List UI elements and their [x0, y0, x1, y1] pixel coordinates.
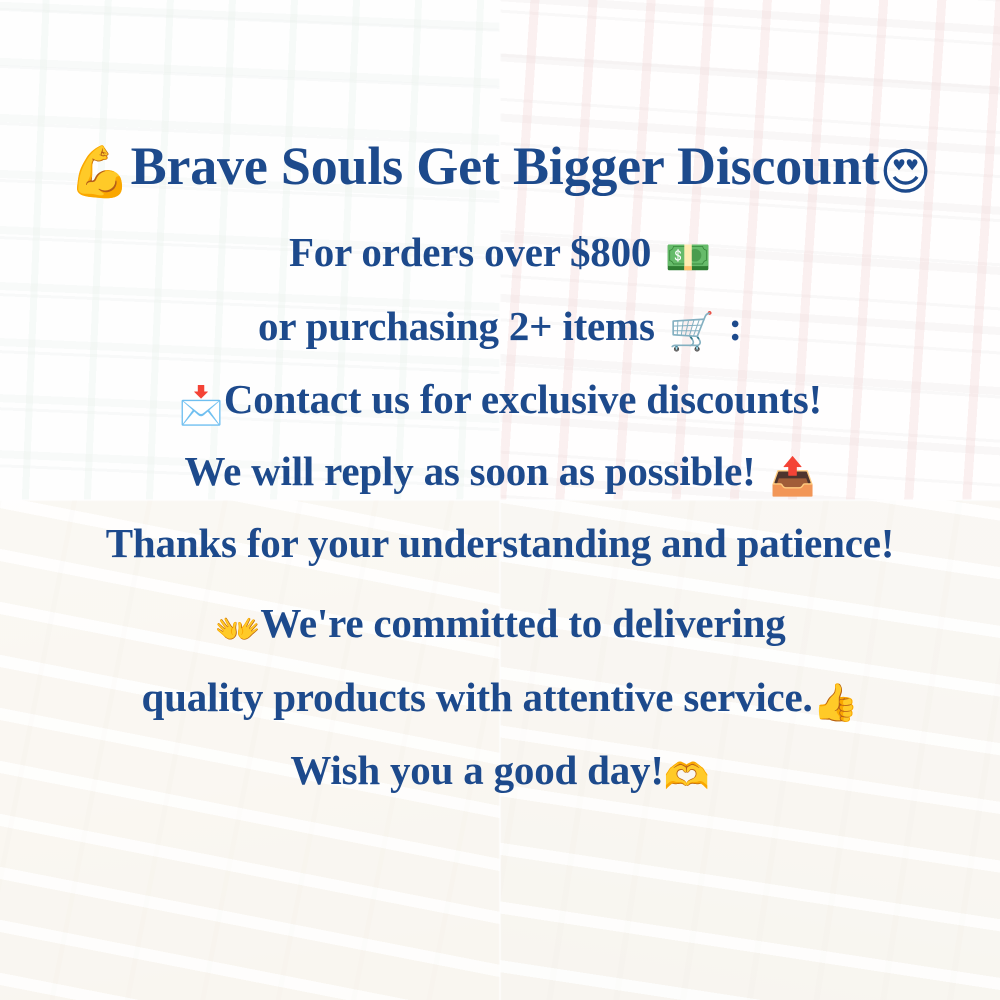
quantity-threshold-colon: :	[729, 303, 742, 349]
commitment-text: We're committed to delivering	[260, 600, 785, 646]
message-stack: 💪Brave Souls Get Bigger Discount😍 For or…	[0, 0, 1000, 1000]
shopping-cart-icon: 🛒	[669, 312, 715, 351]
order-threshold-text: For orders over $800	[289, 229, 651, 275]
contact-us-line: 📩Contact us for exclusive discounts!	[26, 378, 974, 425]
heart-eyes-face-icon: 😍	[879, 146, 931, 199]
promo-banner: 💪Brave Souls Get Bigger Discount😍 For or…	[0, 0, 1000, 1000]
thanks-line: Thanks for your understanding and patien…	[26, 522, 974, 565]
quality-line: quality products with attentive service.…	[26, 676, 974, 723]
commitment-line: 👐We're committed to delivering	[26, 602, 974, 649]
order-threshold-line: For orders over $800💵	[26, 231, 974, 278]
quantity-threshold-line: or purchasing 2+ items🛒:	[26, 305, 974, 352]
open-hands-icon: 👐	[214, 610, 260, 649]
flexed-biceps-icon: 💪	[69, 146, 131, 199]
closing-line: Wish you a good day!🫶	[26, 749, 974, 796]
envelope-with-arrow-icon: 📩	[178, 386, 224, 425]
outbox-tray-icon: 📤	[770, 457, 816, 496]
quantity-threshold-text: or purchasing 2+ items	[258, 303, 655, 349]
closing-text: Wish you a good day!	[290, 747, 663, 793]
contact-us-text: Contact us for exclusive discounts!	[224, 376, 822, 422]
thumbs-up-icon: 👍	[813, 683, 859, 722]
thanks-text: Thanks for your understanding and patien…	[106, 520, 894, 566]
dollar-banknote-icon: 💵	[665, 238, 711, 277]
headline: 💪Brave Souls Get Bigger Discount😍	[26, 138, 974, 199]
quality-text: quality products with attentive service.	[142, 674, 813, 720]
reply-promise-line: We will reply as soon as possible!📤	[26, 450, 974, 497]
headline-text: Brave Souls Get Bigger Discount	[131, 136, 880, 196]
reply-promise-text: We will reply as soon as possible!	[185, 448, 756, 494]
heart-hands-icon: 🫶	[664, 757, 710, 796]
